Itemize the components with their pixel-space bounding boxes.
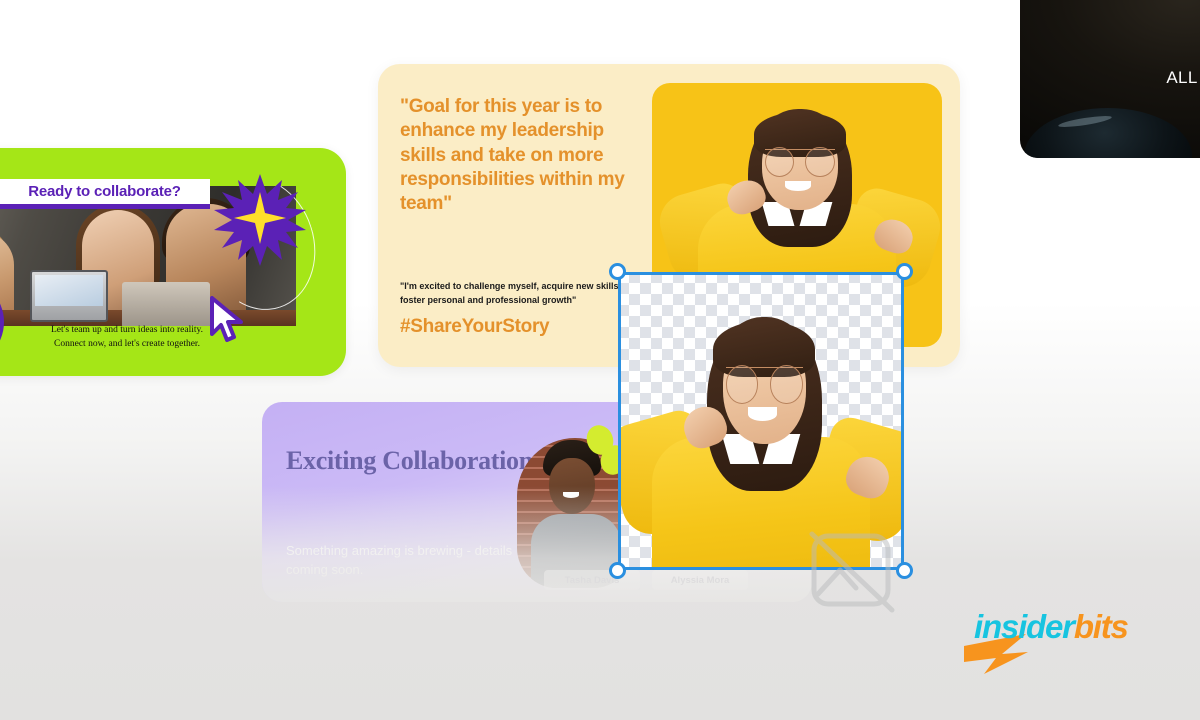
- goal-hashtag: #ShareYourStory: [400, 316, 549, 338]
- dark-card-line1: ALL YOU: [1166, 66, 1200, 90]
- goal-quote-text: "Goal for this year is to enhance my lea…: [400, 95, 650, 217]
- logo-word-bits: bits: [1074, 608, 1128, 645]
- resize-handle-bottom-right[interactable]: [896, 562, 913, 579]
- resize-handle-top-right[interactable]: [896, 263, 913, 280]
- resize-handle-top-left[interactable]: [609, 263, 626, 280]
- cursor-arrow-icon: [208, 296, 248, 344]
- resize-handle-bottom-left[interactable]: [609, 562, 626, 579]
- bowl-photo-element: [1024, 108, 1192, 158]
- cutout-lens-right: [770, 365, 802, 404]
- image-selection[interactable]: [618, 272, 904, 570]
- dark-card-text: ALL YOU ABO: [1166, 66, 1200, 114]
- glasses-lens-right: [805, 147, 834, 177]
- cutout-smile: [748, 407, 777, 420]
- collaboration-alert-subtitle: Something amazing is brewing - details c…: [286, 542, 526, 580]
- collaborate-banner: Ready to collaborate?: [0, 179, 210, 209]
- laptop-left: [30, 270, 108, 322]
- broken-image-icon: [806, 530, 898, 616]
- collaborate-card[interactable]: Ready to collaborate? Let's team up and …: [0, 148, 346, 376]
- transparent-checker-background: [618, 272, 904, 570]
- insiderbits-logo[interactable]: insiderbits: [962, 604, 1162, 666]
- avatar-smile: [563, 492, 579, 498]
- all-you-need-card[interactable]: ALL YOU ABO: [1020, 0, 1200, 158]
- collaborate-banner-label: Ready to collaborate?: [28, 183, 181, 200]
- dark-card-line2: ABO: [1166, 90, 1200, 114]
- woman-figure-cutout: [618, 284, 904, 570]
- logo-word-insider: insider: [974, 608, 1074, 645]
- logo-wordmark: insiderbits: [974, 608, 1128, 646]
- cutout-lens-left: [726, 365, 758, 404]
- cutout-glasses: [726, 367, 803, 394]
- starburst-icon: [212, 172, 308, 268]
- laptop-right: [122, 282, 210, 326]
- design-canvas[interactable]: ALL YOU ABO Ready to collaborate? Let's …: [0, 0, 1200, 720]
- figure-glasses: [765, 149, 835, 170]
- nametag-2: Alyssia Mora: [652, 570, 748, 590]
